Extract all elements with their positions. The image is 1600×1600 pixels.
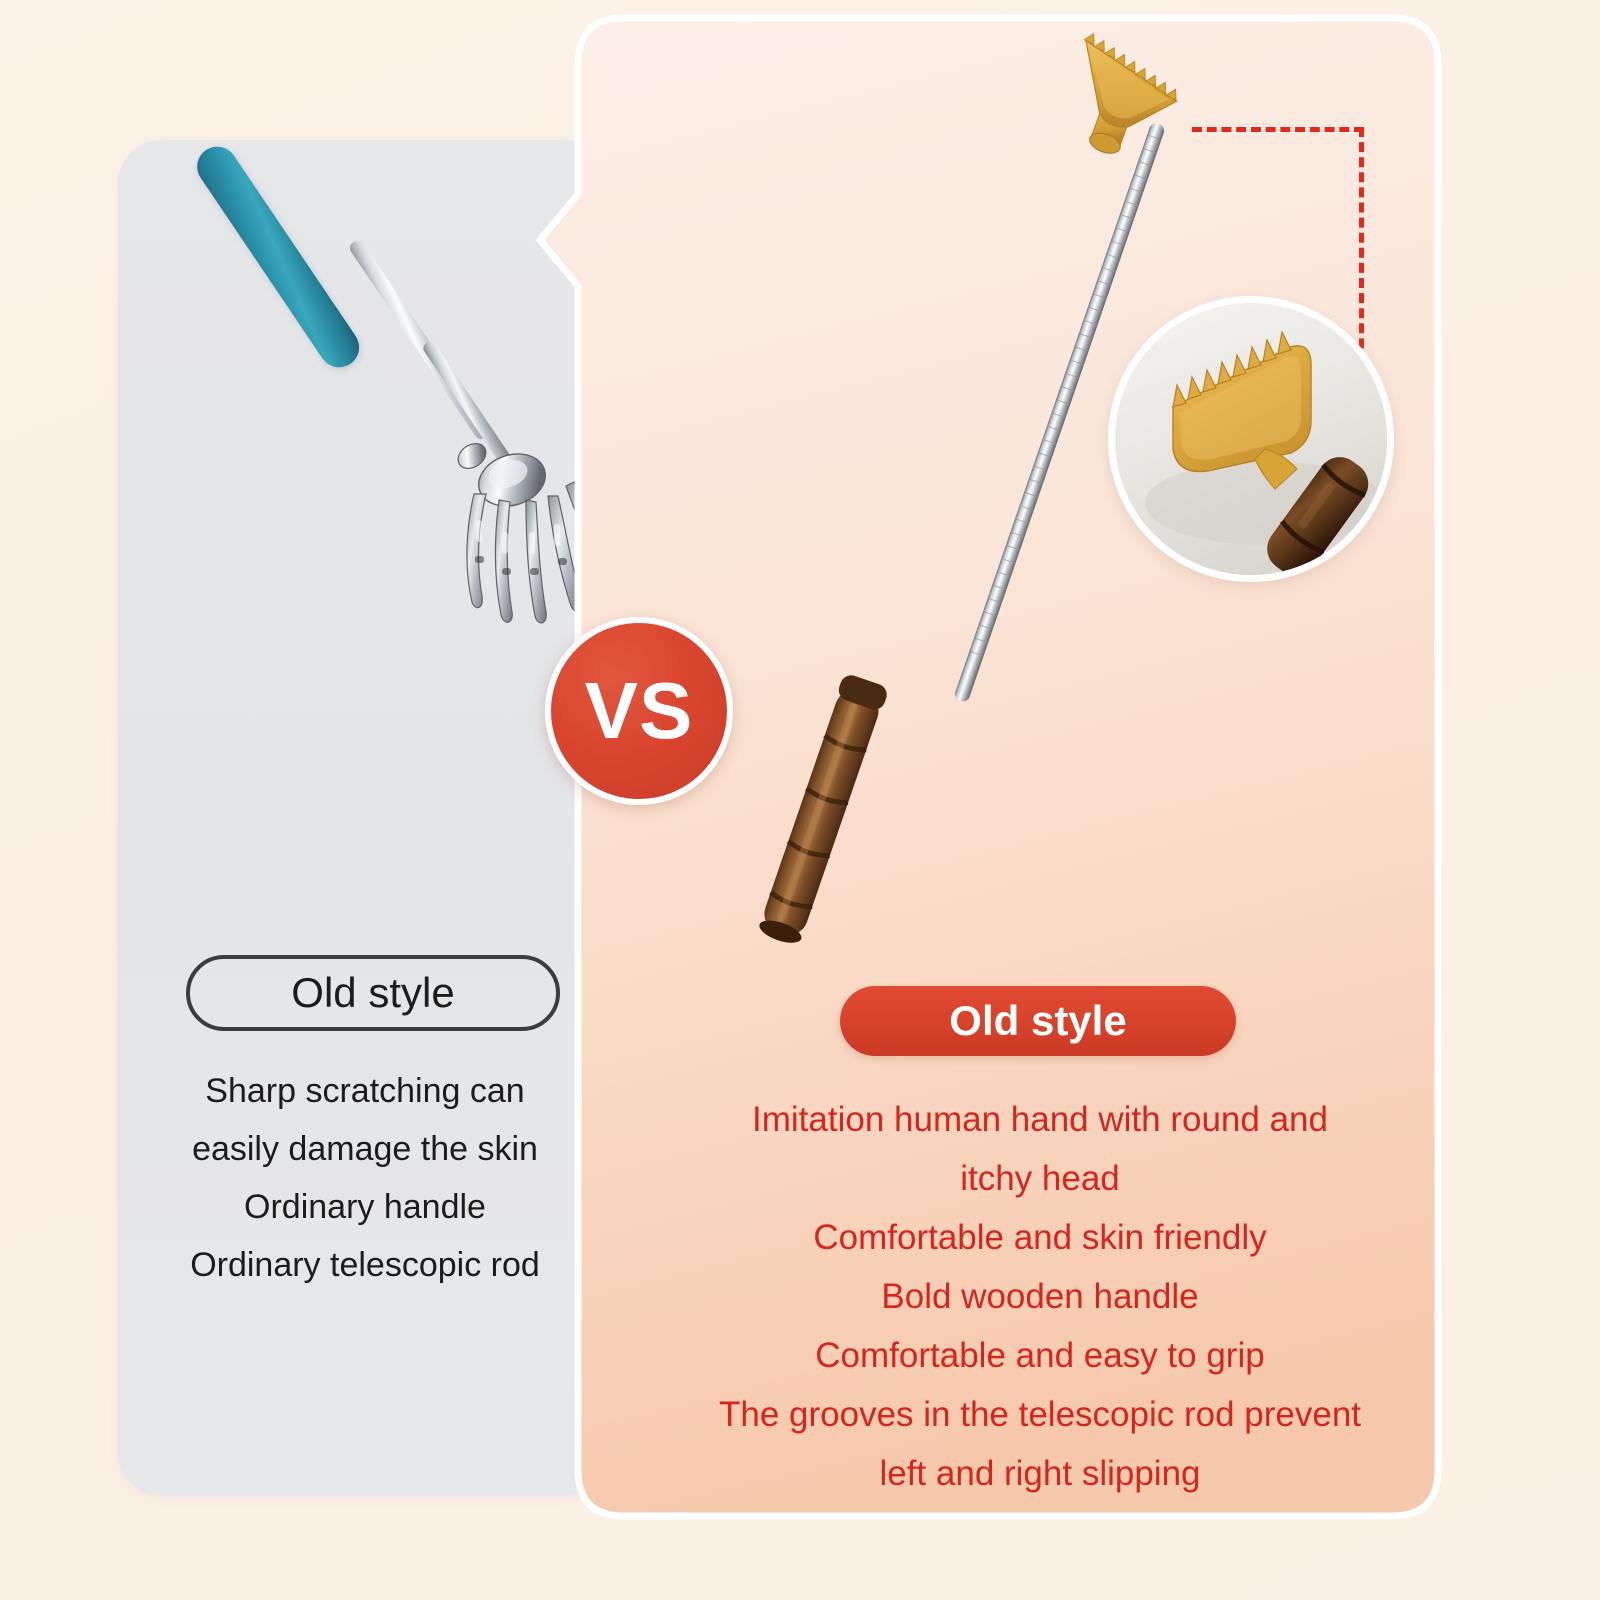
- metal-claw-back-scratcher: [150, 10, 570, 690]
- old-style-badge-right-label: Old style: [949, 997, 1126, 1045]
- callout-dashed-line-horizontal: [1192, 127, 1364, 132]
- description-line: Sharp scratching can: [130, 1062, 600, 1120]
- description-line: easily damage the skin: [130, 1120, 600, 1178]
- blue-rubber-handle: [189, 139, 366, 375]
- description-line: Ordinary telescopic rod: [130, 1236, 600, 1294]
- description-line: The grooves in the telescopic rod preven…: [640, 1385, 1440, 1444]
- old-style-badge-right[interactable]: Old style: [840, 986, 1236, 1056]
- description-line: left and right slipping: [640, 1444, 1440, 1503]
- vs-badge: VS: [545, 617, 733, 805]
- product-comparison-page: Old style Sharp scratching can easily da…: [0, 0, 1600, 1600]
- vs-badge-label: VS: [585, 671, 694, 751]
- description-line: Comfortable and skin friendly: [640, 1208, 1440, 1267]
- head-closeup-inset: [1108, 296, 1394, 582]
- new-product-description: Imitation human hand with round and itch…: [640, 1090, 1440, 1503]
- old-style-badge-left[interactable]: Old style: [186, 955, 560, 1031]
- description-line: itchy head: [640, 1149, 1440, 1208]
- old-product-description: Sharp scratching can easily damage the s…: [130, 1062, 600, 1294]
- old-style-badge-left-label: Old style: [291, 969, 454, 1017]
- description-line: Comfortable and easy to grip: [640, 1326, 1440, 1385]
- description-line: Ordinary handle: [130, 1178, 600, 1236]
- description-line: Bold wooden handle: [640, 1267, 1440, 1326]
- description-line: Imitation human hand with round and: [640, 1090, 1440, 1149]
